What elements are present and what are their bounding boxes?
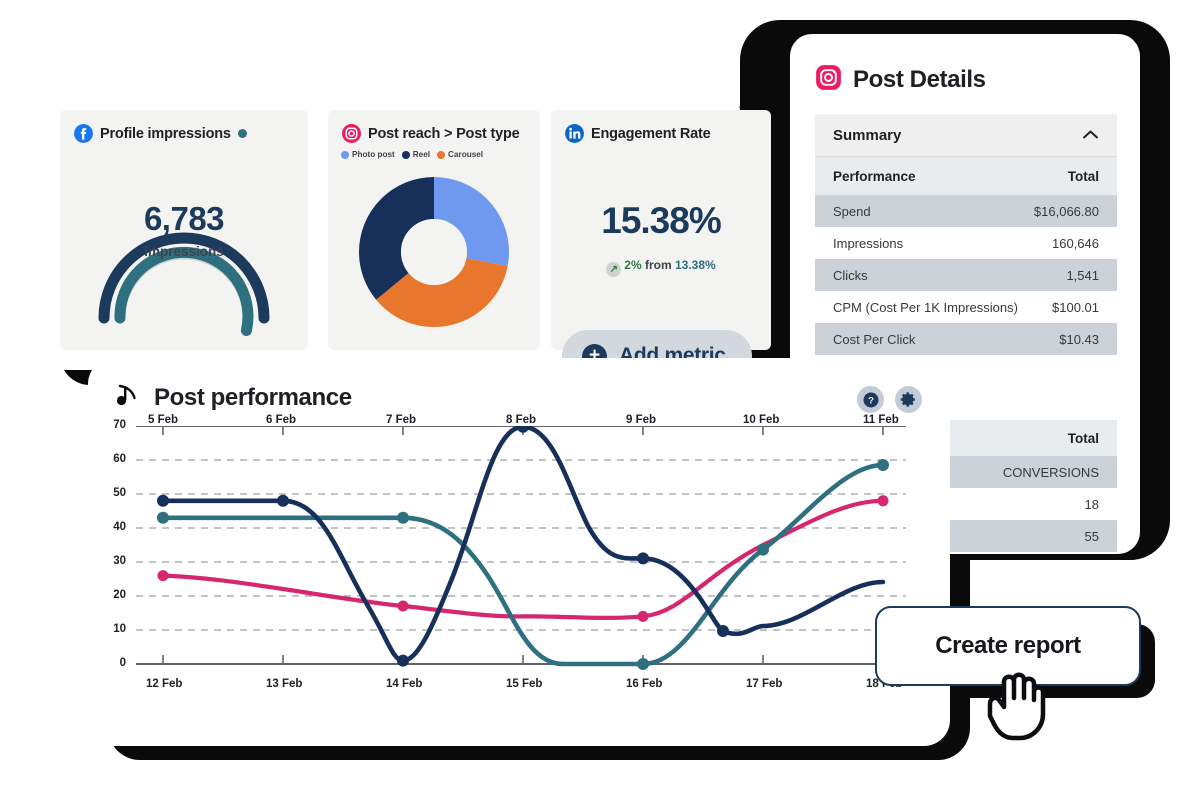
row-total: $10.43	[1059, 332, 1099, 347]
legend-dot-icon	[402, 151, 410, 159]
trend-indicator: ↗2% from 13.38%	[551, 258, 771, 277]
table-row[interactable]: Clicks 1,541	[815, 259, 1117, 291]
table-row[interactable]: Impressions 160,646	[815, 227, 1117, 259]
row-label: Spend	[833, 204, 871, 219]
metric-tile-engagement-rate[interactable]: Engagement Rate 15.38% ↗2% from 13.38%	[551, 110, 771, 350]
summary-label: Summary	[833, 127, 901, 144]
tile-title: Profile impressions	[100, 126, 231, 142]
row-total: 1,541	[1066, 268, 1099, 283]
legend-item-reel[interactable]: Reel	[402, 150, 430, 159]
tile-header: Profile impressions	[60, 110, 308, 143]
row-total: 55	[1085, 529, 1099, 544]
x-tick-label-top: 6 Feb	[266, 414, 296, 426]
legend-dot-icon	[437, 151, 445, 159]
chart-svg	[88, 426, 950, 726]
row-label: CPM (Cost Per 1K Impressions)	[833, 300, 1018, 315]
tile-header: Post reach > Post type	[328, 110, 540, 143]
table-row[interactable]: Cost Per Click $10.43	[815, 323, 1117, 355]
tile-title: Post reach > Post type	[368, 126, 520, 142]
linkedin-icon	[565, 124, 584, 143]
row-label: Impressions	[833, 236, 903, 251]
analytics-swoosh-icon	[114, 382, 140, 413]
row-total: $100.01	[1052, 300, 1099, 315]
x-tick-label-top: 7 Feb	[386, 414, 416, 426]
post-performance-card: Post performance ? 70 60 50 40 30 20 10 …	[88, 358, 950, 746]
performance-header: Post performance	[114, 382, 352, 413]
performance-title: Post performance	[154, 384, 352, 412]
row-total: 18	[1085, 497, 1099, 512]
row-total: 160,646	[1052, 236, 1099, 251]
column-header-total: Total	[1068, 431, 1099, 446]
table-row[interactable]: Spend $16,066.80	[815, 195, 1117, 227]
svg-text:?: ?	[868, 395, 874, 406]
donut-legend: Photo post Reel Carousel	[328, 143, 540, 159]
donut-chart	[354, 172, 514, 332]
create-report-button[interactable]: Create report	[875, 606, 1141, 686]
status-dot-icon	[238, 129, 247, 138]
summary-table: Summary Performance Total Spend $16,066.…	[815, 114, 1117, 355]
row-label: Cost Per Click	[833, 332, 915, 347]
question-mark-icon[interactable]: ?	[857, 386, 884, 413]
engagement-rate-value: 15.38%	[551, 200, 771, 242]
x-tick-label-top: 9 Feb	[626, 414, 656, 426]
table-header-row: Performance Total	[815, 157, 1117, 195]
metric-tile-profile-impressions[interactable]: Profile impressions 6,783 impressions	[60, 110, 308, 350]
summary-toggle-row[interactable]: Summary	[815, 114, 1117, 157]
create-report-label: Create report	[935, 632, 1081, 660]
column-header-total: Total	[1068, 169, 1099, 184]
trend-value: 2%	[624, 258, 641, 272]
post-details-title: Post Details	[853, 66, 986, 94]
metrics-card: Profile impressions 6,783 impressions	[40, 86, 740, 370]
instagram-icon	[342, 124, 361, 143]
facebook-icon	[74, 124, 93, 143]
tile-header: Engagement Rate	[551, 110, 771, 143]
metric-tile-post-reach[interactable]: Post reach > Post type Photo post Reel C…	[328, 110, 540, 350]
gauge-value: 6,783	[74, 202, 294, 235]
table-row[interactable]: CPM (Cost Per 1K Impressions) $100.01	[815, 291, 1117, 323]
trend-baseline: 13.38%	[675, 258, 716, 272]
legend-label: Reel	[413, 150, 430, 159]
trend-up-arrow-icon: ↗	[606, 262, 621, 277]
gauge-chart: 6,783 impressions ↗284 from 6,499	[74, 158, 294, 288]
gear-icon[interactable]	[895, 386, 922, 413]
row-total: CONVERSIONS	[1003, 465, 1099, 480]
x-tick-label-top: 8 Feb	[506, 414, 536, 426]
legend-item-carousel[interactable]: Carousel	[437, 150, 483, 159]
tile-title: Engagement Rate	[591, 126, 710, 142]
trend-middle: from	[645, 258, 672, 272]
x-tick-label-top: 11 Feb	[863, 414, 899, 426]
row-total: $16,066.80	[1034, 204, 1099, 219]
post-details-header: Post Details	[790, 34, 1140, 96]
screenshot-stage: Post Details Summary Performance Total S…	[0, 0, 1200, 800]
legend-label: Photo post	[352, 150, 395, 159]
instagram-icon	[815, 64, 842, 96]
chevron-up-icon[interactable]	[1082, 127, 1099, 144]
legend-dot-icon	[341, 151, 349, 159]
legend-label: Carousel	[448, 150, 483, 159]
x-tick-label-top: 5 Feb	[148, 414, 178, 426]
row-label: Clicks	[833, 268, 868, 283]
performance-actions: ?	[857, 386, 922, 413]
performance-line-chart: 70 60 50 40 30 20 10 0 5 Feb 6 Feb 7 Feb…	[88, 426, 950, 726]
gauge-unit-label: impressions	[74, 244, 294, 259]
column-header-performance: Performance	[833, 169, 916, 184]
gauge-center-text: 6,783 impressions	[74, 202, 294, 259]
x-tick-label-top: 10 Feb	[743, 414, 779, 426]
legend-item-photo-post[interactable]: Photo post	[341, 150, 395, 159]
